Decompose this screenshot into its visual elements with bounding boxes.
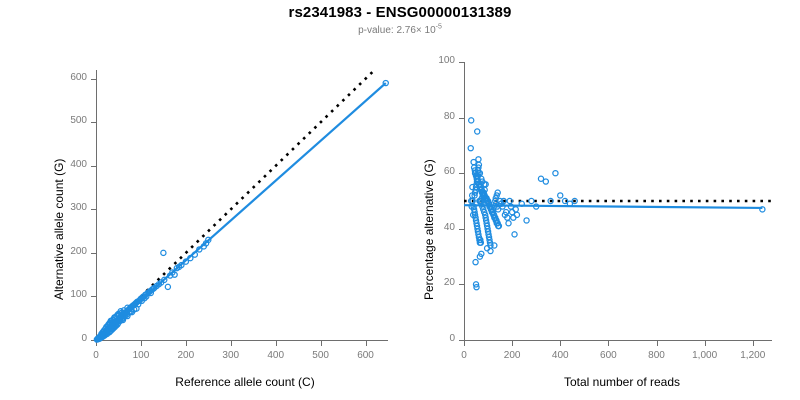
x-tick-right-2 (560, 341, 561, 346)
data-point (543, 179, 548, 184)
y-tick-label-left-3: 300 (70, 202, 87, 213)
data-point (469, 118, 474, 123)
y-axis-title-right: Percentage alternative (G) (422, 159, 436, 300)
x-axis-spine-left (96, 340, 388, 341)
x-axis-title-left: Reference allele count (C) (45, 375, 445, 389)
x-tick-left-6 (366, 341, 367, 346)
plot-area-right: 02040608010002004006008001,0001,200 (464, 62, 772, 340)
data-point (475, 129, 480, 134)
data-point (468, 146, 473, 151)
x-tick-right-1 (512, 341, 513, 346)
data-point (558, 193, 563, 198)
data-point (529, 198, 534, 203)
data-point (512, 232, 517, 237)
data-point (165, 284, 170, 289)
x-axis-title-right: Total number of reads (422, 375, 800, 389)
y-tick-label-left-4: 400 (70, 159, 87, 170)
plot-screenshot: rs2341983 - ENSG00000131389 p-value: 2.7… (0, 0, 800, 400)
data-point (514, 212, 519, 217)
data-point (476, 157, 481, 162)
x-tick-right-3 (608, 341, 609, 346)
y-tick-label-right-3: 60 (444, 166, 455, 177)
y-tick-label-right-1: 20 (444, 277, 455, 288)
data-point (524, 218, 529, 223)
y-tick-label-left-2: 200 (70, 246, 87, 257)
data-point (513, 207, 518, 212)
x-tick-label-left-6: 600 (336, 350, 396, 361)
x-tick-label-right-6: 1,200 (723, 350, 783, 361)
y-axis-title-left: Alternative allele count (G) (52, 159, 66, 300)
y-tick-label-left-1: 100 (70, 289, 87, 300)
panel-percentage: Percentage alternative (G) Total number … (400, 0, 800, 400)
y-tick-label-left-0: 0 (81, 333, 87, 344)
data-point (161, 250, 166, 255)
x-tick-right-6 (753, 341, 754, 346)
data-point (506, 221, 511, 226)
x-tick-left-2 (186, 341, 187, 346)
y-tick-label-right-5: 100 (438, 55, 455, 66)
y-tick-label-left-5: 500 (70, 115, 87, 126)
x-tick-right-4 (657, 341, 658, 346)
data-point (553, 171, 558, 176)
y-tick-label-left-6: 600 (70, 72, 87, 83)
y-tick-label-right-0: 0 (449, 333, 455, 344)
scatter-points-right (468, 118, 765, 290)
x-tick-left-5 (321, 341, 322, 346)
x-tick-left-3 (231, 341, 232, 346)
x-axis-spine-right (464, 340, 772, 341)
data-point (383, 80, 388, 85)
data-point (760, 207, 765, 212)
x-tick-right-0 (464, 341, 465, 346)
x-tick-left-1 (141, 341, 142, 346)
panel-allele-counts: Alternative allele count (G) Reference a… (0, 0, 400, 400)
x-tick-right-5 (705, 341, 706, 346)
x-tick-left-4 (276, 341, 277, 346)
y-tick-label-right-2: 40 (444, 222, 455, 233)
data-layer-left (96, 70, 388, 340)
data-point (473, 260, 478, 265)
data-layer-right (464, 62, 772, 340)
y-tick-label-right-4: 80 (444, 111, 455, 122)
plot-area-left: 01002003004005006000100200300400500600 (96, 70, 388, 340)
